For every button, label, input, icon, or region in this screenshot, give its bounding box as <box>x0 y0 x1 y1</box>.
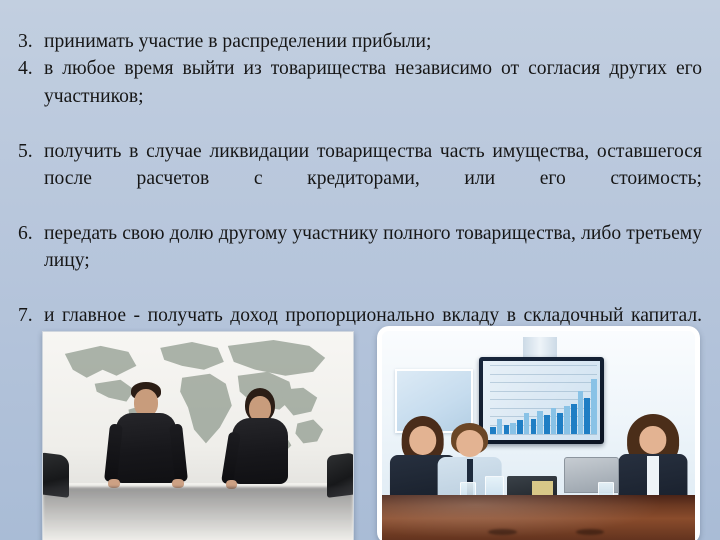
business-meeting-presentation-photo <box>377 326 700 540</box>
list-item-number: 3. <box>18 28 44 55</box>
list-item: 5. получить в случае ликвидации товарище… <box>18 138 702 220</box>
list-item-number: 7. <box>18 302 44 329</box>
bar-group <box>531 365 543 433</box>
bar <box>531 419 537 434</box>
bar <box>571 404 577 434</box>
world-map-graphic <box>43 332 353 483</box>
list-item-number: 4. <box>18 55 44 82</box>
head <box>639 426 666 454</box>
bar <box>504 425 510 433</box>
tv-mount-bracket <box>523 337 557 358</box>
businessman-figure <box>105 382 187 496</box>
head <box>456 430 484 457</box>
bar <box>584 398 590 433</box>
bar <box>537 411 543 434</box>
suit-jacket <box>116 413 176 483</box>
businesswoman-figure <box>221 388 299 496</box>
list-item-number: 5. <box>18 138 44 165</box>
bar-group <box>544 365 556 433</box>
bar <box>517 420 523 434</box>
bar-group <box>504 365 516 433</box>
list-item-text: получить в случае ликвидации товариществ… <box>44 138 702 220</box>
list-item: 4. в любое время выйти из товарищества н… <box>18 55 702 137</box>
bar <box>510 423 516 433</box>
bar <box>544 415 550 433</box>
blouse <box>647 456 659 496</box>
table-gloss <box>382 495 695 540</box>
list-item-text: в любое время выйти из товарищества неза… <box>44 55 702 137</box>
bar-chart <box>490 365 597 433</box>
slide-canvas: 3. принимать участие в распределении при… <box>0 0 720 540</box>
list-item: 3. принимать участие в распределении при… <box>18 28 702 55</box>
bar <box>564 406 570 434</box>
bullet-list: 3. принимать участие в распределении при… <box>18 28 702 357</box>
list-item-number: 6. <box>18 220 44 247</box>
business-people-world-map-photo <box>42 331 354 540</box>
bar-group <box>557 365 569 433</box>
bar <box>524 413 530 433</box>
bar <box>557 413 563 433</box>
suit-jacket <box>232 418 288 484</box>
head <box>409 426 437 455</box>
bar-group <box>584 365 596 433</box>
bar-group <box>517 365 529 433</box>
bar <box>591 379 597 434</box>
list-item: 6. передать свою долю другому участнику … <box>18 220 702 302</box>
bar <box>578 391 584 434</box>
bar <box>551 408 557 434</box>
list-item-text: принимать участие в распределении прибыл… <box>44 28 702 55</box>
bar-group <box>571 365 583 433</box>
list-item-text: передать свою долю другому участнику пол… <box>44 220 702 302</box>
table-reflection <box>43 487 353 540</box>
